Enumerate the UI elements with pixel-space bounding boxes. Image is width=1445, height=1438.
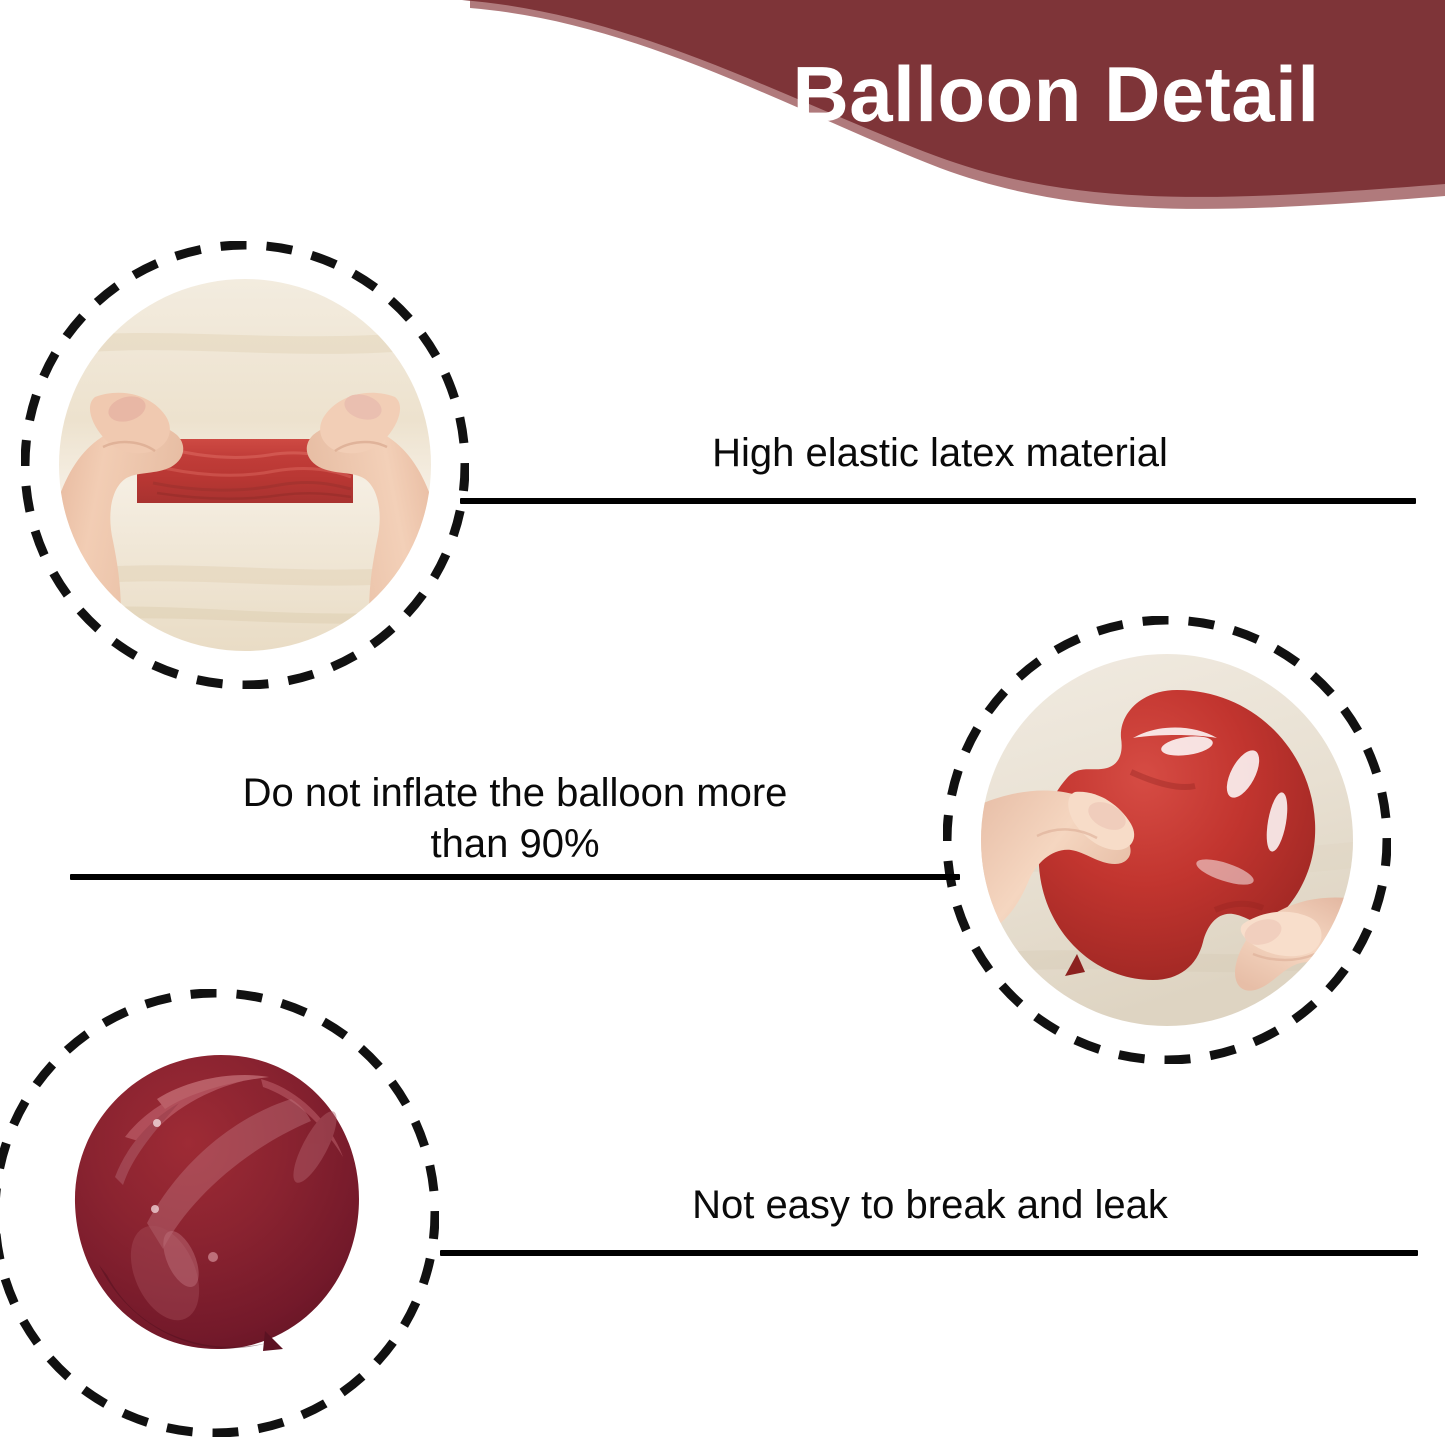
infographic-canvas: Balloon Detail bbox=[0, 0, 1445, 1438]
feature-circle-durability bbox=[0, 989, 439, 1437]
feature-label-inflation-limit: Do not inflate the balloon more than 90% bbox=[70, 768, 960, 870]
feature-rule-durability bbox=[440, 1250, 1418, 1256]
feature-label-elasticity: High elastic latex material bbox=[500, 428, 1380, 479]
feature-rule-inflation-limit bbox=[70, 874, 960, 880]
feature-rule-elasticity bbox=[460, 498, 1416, 504]
header-banner: Balloon Detail bbox=[0, 0, 1445, 240]
hands-pressing-inflated-balloon-photo bbox=[981, 654, 1353, 1026]
hands-stretching-latex-strip-photo bbox=[59, 279, 431, 651]
page-title: Balloon Detail bbox=[700, 55, 1412, 133]
burgundy-balloon-photo bbox=[29, 1027, 401, 1399]
feature-circle-inflation-limit bbox=[943, 616, 1391, 1064]
feature-circle-elasticity bbox=[21, 241, 469, 689]
feature-label-durability: Not easy to break and leak bbox=[470, 1180, 1390, 1231]
